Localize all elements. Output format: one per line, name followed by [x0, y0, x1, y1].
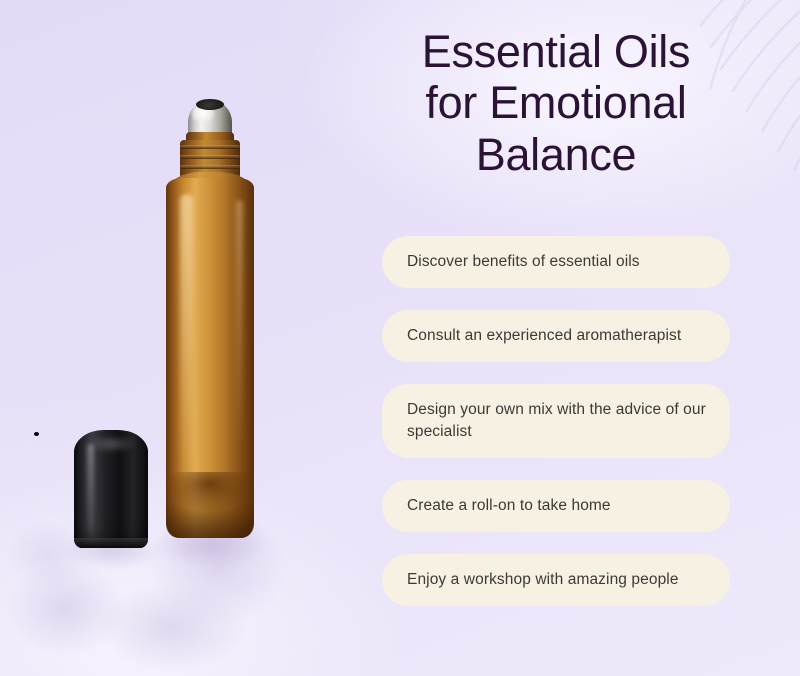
poster: Essential Oils for Emotional Balance Dis…: [0, 0, 800, 676]
page-title: Essential Oils for Emotional Balance: [382, 0, 730, 180]
thread-ridge: [180, 155, 240, 159]
list-item: Discover benefits of essential oils: [382, 236, 730, 288]
black-bottle-cap: [74, 430, 148, 548]
cap-pinhole: [34, 432, 39, 436]
list-item: Enjoy a workshop with amazing people: [382, 554, 730, 606]
thread-ridge: [180, 165, 240, 169]
benefits-list: Discover benefits of essential oils Cons…: [382, 236, 730, 606]
roller-ball-top-shade: [196, 99, 224, 110]
cap-bottom-rim: [74, 538, 148, 548]
list-item: Design your own mix with the advice of o…: [382, 384, 730, 458]
bottle-highlight-secondary: [236, 200, 243, 450]
list-item: Create a roll-on to take home: [382, 480, 730, 532]
bottle-base-shading: [166, 472, 254, 538]
bottle-highlight: [180, 194, 193, 494]
list-item: Consult an experienced aromatherapist: [382, 310, 730, 362]
text-column: Essential Oils for Emotional Balance Dis…: [382, 0, 730, 676]
product-photo: [0, 0, 380, 676]
amber-glass-roller-bottle: [166, 178, 254, 538]
cap-highlight: [87, 444, 94, 532]
thread-ridge: [180, 145, 240, 149]
